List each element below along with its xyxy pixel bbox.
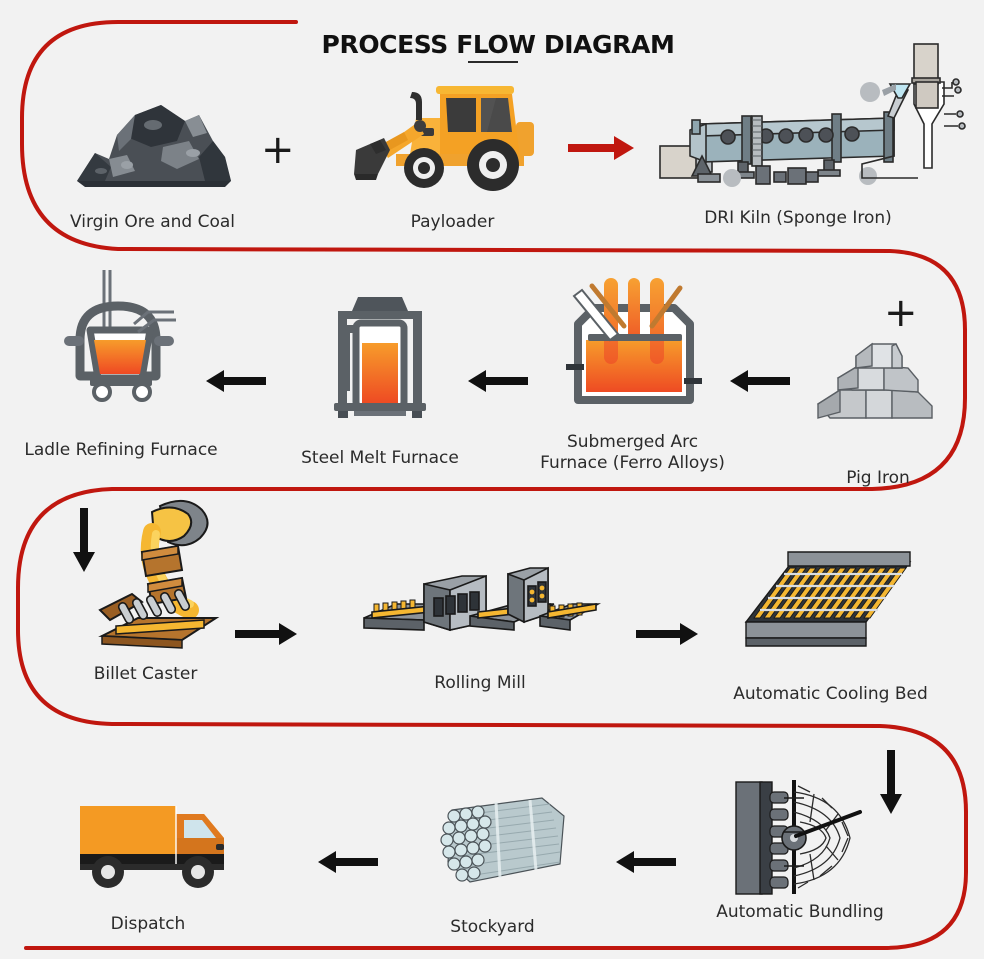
arrow-right-rollingmill-to-coolingbed [636,622,700,646]
node-label: Automatic Cooling Bed [718,684,943,705]
plus-sign-pig-iron: + [884,293,918,333]
node-label: Billet Caster [58,664,233,685]
melt-furnace-icon [320,295,440,420]
rolling-mill-icon [358,560,603,645]
plus-sign-ore-payloader: + [261,130,295,170]
node-label: Rolling Mill [345,673,615,694]
delivery-truck-icon [58,792,238,892]
node-label: Ladle Refining Furnace [22,440,220,461]
arrow-left-bundling-to-stockyard [614,850,676,874]
title-divider-dash [468,61,518,63]
node-automatic-cooling-bed[interactable]: Automatic Cooling Bed [718,548,943,705]
node-ladle-refining-furnace[interactable]: Ladle Refining Furnace [22,268,220,461]
rotary-kiln-icon [656,38,941,196]
node-dri-kiln[interactable]: DRI Kiln (Sponge Iron) [648,38,948,229]
arrow-left-stockyard-to-dispatch [316,850,378,874]
node-label: Automatic Bundling [700,902,900,923]
node-billet-caster[interactable]: Billet Caster [58,498,233,685]
node-submerged-arc-furnace[interactable]: Submerged Arc Furnace (Ferro Alloys) [540,278,725,475]
cooling-bed-icon [738,548,923,658]
node-label: Pig Iron [788,468,968,489]
node-label: DRI Kiln (Sponge Iron) [648,208,948,229]
pig-iron-ingots-icon [808,330,948,430]
arc-furnace-icon [558,278,708,418]
node-label: Dispatch [58,914,238,935]
node-label: Virgin Ore and Coal [35,212,270,233]
node-pig-iron[interactable]: Pig Iron [788,330,968,489]
arrow-right-payloader-to-kiln [568,135,636,161]
arrow-left-pigiron-to-arcfurnace [728,369,790,393]
node-automatic-bundling[interactable]: Automatic Bundling [700,778,900,923]
coal-pile-icon [65,95,240,190]
node-virgin-ore-and-coal[interactable]: Virgin Ore and Coal [35,95,270,233]
node-label: Stockyard [400,917,585,938]
node-steel-melt-furnace[interactable]: Steel Melt Furnace [295,295,465,469]
node-payloader[interactable]: Payloader [335,70,570,233]
page-title: PROCESS FLOW DIAGRAM [308,30,688,59]
bundling-machine-icon [714,778,879,896]
arrow-right-billetcaster-to-rollingmill [235,622,299,646]
payloader-icon [348,70,558,192]
node-label: Submerged Arc Furnace (Ferro Alloys) [540,432,725,475]
node-label: Payloader [335,212,570,233]
process-flow-diagram-page: PROCESS FLOW DIAGRAM [0,0,984,959]
steel-bar-bundle-icon [418,790,568,895]
node-rolling-mill[interactable]: Rolling Mill [345,560,615,694]
node-label: Steel Melt Furnace [295,448,465,469]
node-stockyard[interactable]: Stockyard [400,790,585,938]
node-dispatch[interactable]: Dispatch [58,792,238,935]
arrow-left-arcfurnace-to-meltfurnace [466,369,528,393]
billet-caster-icon [86,498,246,658]
ladle-icon [46,268,196,418]
